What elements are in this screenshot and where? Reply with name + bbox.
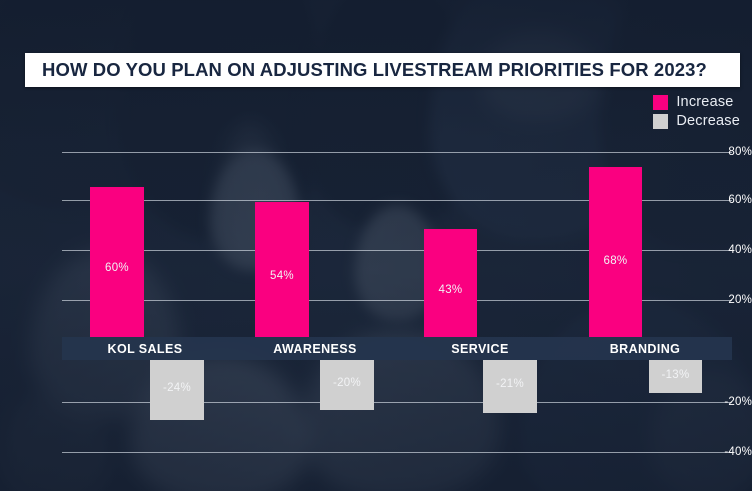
bar-value-increase-awareness: 54% xyxy=(255,270,309,282)
bar-value-decrease-kol-sales: -24% xyxy=(150,382,204,394)
bar-increase-branding[interactable]: 68% xyxy=(589,167,642,337)
bar-value-decrease-branding: -13% xyxy=(649,369,702,381)
gridline-neg40 xyxy=(62,452,732,453)
bar-value-increase-kol-sales: 60% xyxy=(90,262,144,274)
ytick-label-neg20: -20% xyxy=(698,396,752,408)
bar-increase-service[interactable]: 43% xyxy=(424,229,477,337)
category-label-branding: BRANDING xyxy=(580,337,710,360)
gridline-80 xyxy=(62,152,732,153)
ytick-label-20: 20% xyxy=(698,294,752,306)
bar-value-decrease-service: -21% xyxy=(483,378,537,390)
bar-decrease-awareness[interactable]: -20% xyxy=(320,360,374,410)
bar-increase-awareness[interactable]: 54% xyxy=(255,202,309,337)
category-label-service: SERVICE xyxy=(415,337,545,360)
bar-value-increase-branding: 68% xyxy=(589,255,642,267)
ytick-label-neg40: -40% xyxy=(698,446,752,458)
ytick-label-60: 60% xyxy=(698,194,752,206)
bar-decrease-branding[interactable]: -13% xyxy=(649,360,702,393)
bar-decrease-service[interactable]: -21% xyxy=(483,360,537,413)
category-label-kol-sales: KOL SALES xyxy=(80,337,210,360)
bar-value-decrease-awareness: -20% xyxy=(320,377,374,389)
ytick-label-40: 40% xyxy=(698,244,752,256)
ytick-label-80: 80% xyxy=(698,146,752,158)
category-label-awareness: AWARENESS xyxy=(245,337,385,360)
bar-decrease-kol-sales[interactable]: -24% xyxy=(150,360,204,420)
bar-value-increase-service: 43% xyxy=(424,284,477,296)
bar-increase-kol-sales[interactable]: 60% xyxy=(90,187,144,337)
bar-chart-plot: 80% 60% 40% 20% -20% -40% 60% -24% 54% -… xyxy=(0,0,752,491)
